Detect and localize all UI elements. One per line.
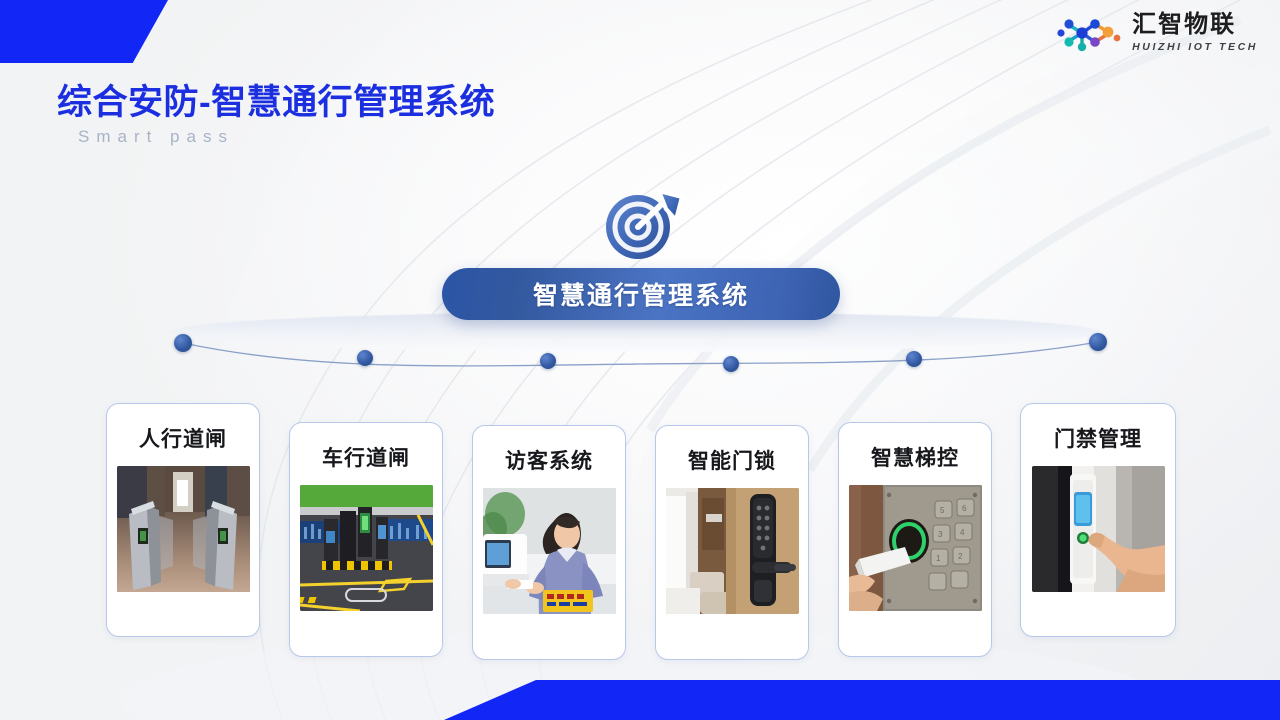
logo-tagline: HUIZHI IOT TECH [1132,42,1258,53]
connector-node-6 [1089,333,1107,351]
vehicle-barrier-gate-photo [300,485,433,611]
service-card-4[interactable]: 智能门锁 [655,425,809,660]
smart-door-lock-photo [666,488,799,614]
connector-node-2 [357,350,373,366]
page-subtitle: Smart pass [78,127,234,147]
service-card-3[interactable]: 访客系统 [472,425,626,660]
svg-text:4: 4 [960,528,965,537]
connector-node-1 [174,334,192,352]
svg-text:6: 6 [962,504,967,513]
svg-text:2: 2 [958,552,963,561]
svg-text:1: 1 [936,554,941,563]
service-card-title: 访客系统 [505,445,593,475]
connector-node-5 [906,351,922,367]
connector-node-4 [723,356,739,372]
elevator-card-reader-photo: 563412 [849,485,982,611]
logo-company-name: 汇智物联 [1132,13,1258,37]
svg-text:5: 5 [940,506,945,515]
connector-node-3 [540,353,556,369]
visitor-reception-desk-photo [483,488,616,614]
system-banner[interactable]: 智慧通行管理系统 [442,268,840,320]
molecular-network-icon [1055,13,1123,53]
target-dart-icon [596,185,688,263]
service-card-title: 人行道闸 [139,423,227,453]
slide-canvas: 综合安防-智慧通行管理系统 Smart pass [0,0,1280,720]
service-card-title: 智能门锁 [688,445,776,475]
system-banner-label: 智慧通行管理系统 [533,276,749,312]
pedestrian-speed-gate-photo [117,466,250,592]
company-logo: 汇智物联 HUIZHI IOT TECH [1055,13,1258,53]
service-card-6[interactable]: 门禁管理 [1020,403,1176,637]
bottom-right-blue-accent [444,680,1280,720]
logo-text-block: 汇智物联 HUIZHI IOT TECH [1132,13,1258,53]
service-card-title: 门禁管理 [1054,423,1142,453]
service-card-title: 车行道闸 [322,442,410,472]
service-card-1[interactable]: 人行道闸 [106,403,260,637]
service-card-5[interactable]: 智慧梯控563412 [838,422,992,657]
service-card-2[interactable]: 车行道闸 [289,422,443,657]
page-title: 综合安防-智慧通行管理系统 [57,74,495,125]
service-card-title: 智慧梯控 [871,442,959,472]
svg-text:3: 3 [938,530,943,539]
top-left-blue-accent [0,0,168,63]
access-control-terminal-photo [1032,466,1165,592]
